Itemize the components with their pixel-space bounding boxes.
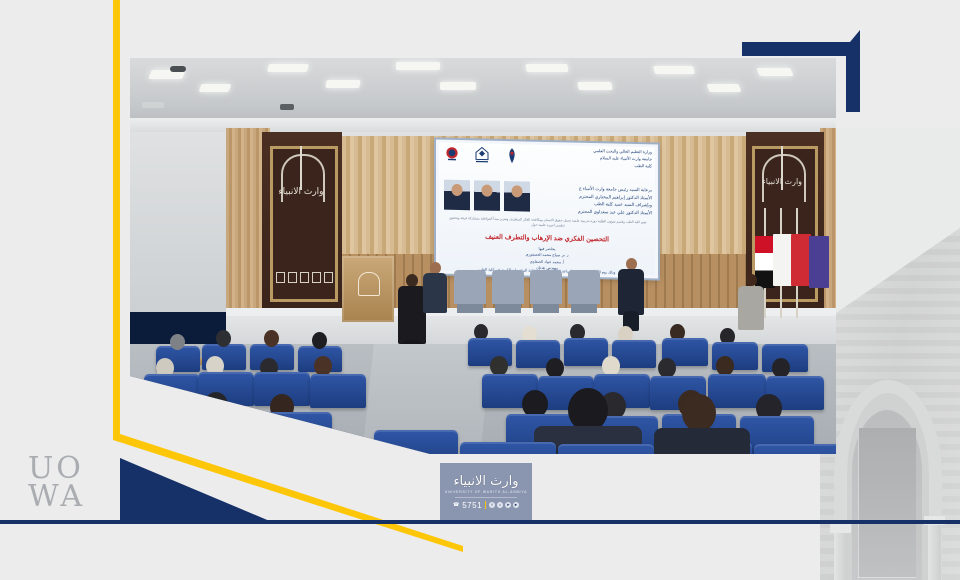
faculty-flag-purple xyxy=(809,236,829,288)
ceiling-vent xyxy=(142,102,164,108)
instagram-icon[interactable]: ○ xyxy=(497,502,503,508)
panel-squares-left xyxy=(276,272,333,283)
phone-number: 5751 xyxy=(462,501,482,510)
ceiling-light xyxy=(325,80,360,88)
audience-seat xyxy=(144,374,200,408)
university-logo xyxy=(474,146,490,164)
overlay-university-logo: وارث الانبياء University of Warith Al-An… xyxy=(440,463,532,521)
social-icons: f ○ ➤ ► xyxy=(489,502,519,508)
college-flag-red xyxy=(791,234,811,286)
ceiling-light xyxy=(756,68,794,76)
attendee-head xyxy=(772,358,790,378)
slide-logos xyxy=(444,146,520,166)
facebook-icon[interactable]: f xyxy=(489,502,495,508)
youtube-icon[interactable]: ► xyxy=(513,502,519,508)
stage-chair-row xyxy=(454,270,600,304)
attendee-head xyxy=(204,392,228,418)
navy-triangle-accent xyxy=(120,458,272,522)
ceiling-light xyxy=(577,82,613,90)
speaker-portrait-2 xyxy=(474,180,500,211)
ceiling-light xyxy=(267,64,309,72)
audience-seat xyxy=(196,412,266,454)
ministry-logo xyxy=(444,146,460,164)
audience-seat xyxy=(558,444,654,454)
speaker-portrait-1 xyxy=(444,180,470,211)
stage-chair xyxy=(530,270,562,304)
audience-seat xyxy=(374,430,458,454)
yellow-vertical-accent xyxy=(113,0,120,440)
slide-patronage-block: برعاية السيد رئيس جامعة وارث الأنبياء ع … xyxy=(524,183,652,217)
attendee-head xyxy=(716,356,734,376)
wall-panel-right-calligraphy: وارث الانبياء xyxy=(755,178,809,186)
attendee-head xyxy=(546,358,564,378)
slide-speaker-portraits xyxy=(444,180,530,212)
podium-emblem xyxy=(358,272,380,296)
ceiling-light xyxy=(707,84,742,92)
phone-icon: ☎ xyxy=(453,502,459,508)
slide-ministry-heading: وزارة التعليم العالي والبحث العلمي جامعة… xyxy=(522,146,652,169)
audience-seat xyxy=(262,412,332,454)
attendee-head xyxy=(264,330,279,347)
lecture-hall-photo: وارث الانبياء وارث الانبياء xyxy=(130,58,836,454)
audience-seat xyxy=(310,374,366,408)
iraq-flag xyxy=(755,236,775,288)
ceiling-light xyxy=(525,64,568,72)
attendee-head xyxy=(658,358,676,378)
attendee-head xyxy=(216,330,231,347)
attendee-head xyxy=(312,332,327,349)
audience-seat xyxy=(754,444,836,454)
college-logo xyxy=(504,147,520,165)
attendee-head-hijab xyxy=(142,394,166,420)
telegram-icon[interactable]: ➤ xyxy=(505,502,511,508)
ceiling-light xyxy=(653,66,695,74)
backdrop-column-left xyxy=(834,528,847,580)
ceiling-light xyxy=(199,84,232,92)
attendee-head-hijab xyxy=(602,356,620,376)
university-arabic-wordmark: وارث الانبياء xyxy=(453,475,518,488)
ceiling-speaker xyxy=(280,104,294,110)
ceiling-light xyxy=(396,62,440,70)
uowa-watermark: UO WA xyxy=(28,455,118,510)
panel-spike-left xyxy=(300,146,302,190)
ceiling-light xyxy=(440,82,476,90)
audience-seat xyxy=(564,338,608,366)
seat-desk xyxy=(266,434,340,444)
wall-panel-left-calligraphy: وارث الانبياء xyxy=(273,188,329,197)
stage-chair xyxy=(454,270,486,304)
contact-separator xyxy=(485,501,486,509)
attendee-torso xyxy=(654,428,750,454)
stage-chair xyxy=(492,270,524,304)
uowa-watermark-line-2: WA xyxy=(28,483,118,511)
logo-divider xyxy=(455,497,517,498)
stage-chair xyxy=(568,270,600,304)
attendee-head xyxy=(314,356,332,376)
projection-screen: وزارة التعليم العالي والبحث العلمي جامعة… xyxy=(436,139,658,278)
attendee-head xyxy=(170,334,185,350)
university-flag-white xyxy=(773,234,793,286)
backdrop-window-grid xyxy=(858,428,916,578)
ceiling-projector xyxy=(170,66,186,72)
audience-seat xyxy=(460,442,556,454)
backdrop-capital-left xyxy=(830,524,851,533)
university-english-name: University of Warith Al-Anbiya xyxy=(445,490,527,494)
backdrop-column-right xyxy=(928,520,941,580)
attendee-head xyxy=(490,356,508,376)
screenshot-canvas: وارث الانبياء وارث الانبياء xyxy=(0,0,960,580)
attendee-head xyxy=(682,394,716,432)
contact-row: ☎ 5751 f ○ ➤ ► xyxy=(453,501,519,510)
